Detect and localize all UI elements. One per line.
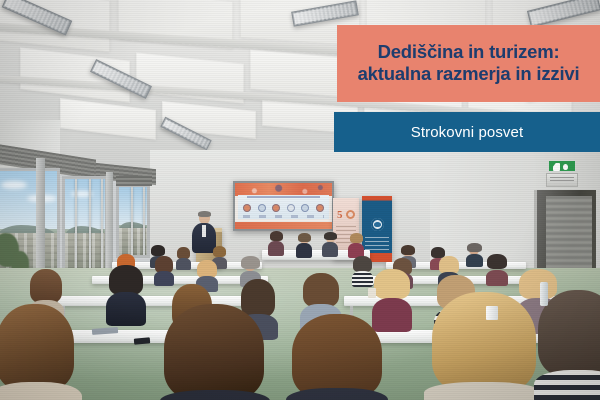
- speaker: [192, 212, 216, 252]
- slide-content: [235, 183, 332, 229]
- audience-member: [352, 258, 373, 285]
- coffee-cup: [368, 288, 376, 298]
- audience-member: [466, 244, 483, 266]
- panelist: [322, 233, 338, 255]
- wall-information-plate: [546, 173, 578, 187]
- window-frame: [36, 158, 45, 284]
- audience-member-foreground: [424, 300, 542, 400]
- coffee-cup: [486, 306, 498, 320]
- title-line-1: Dediščina in turizem:: [378, 41, 560, 62]
- audience-member-foreground: [534, 296, 600, 400]
- window-frame: [106, 172, 113, 276]
- rollup-logo-icon: [371, 218, 384, 231]
- projection-screen: [233, 181, 334, 231]
- window-blind: [116, 176, 152, 186]
- panelist: [268, 232, 284, 254]
- subtitle-banner: Strokovni posvet: [334, 112, 600, 152]
- audience-member: [106, 268, 146, 324]
- audience-member-foreground: [0, 310, 82, 400]
- rollup-ring-icon: [346, 210, 355, 219]
- panelist: [296, 234, 312, 256]
- panelist: [348, 234, 364, 256]
- event-promo-image: 5: [0, 0, 600, 400]
- window-left-outer: [0, 168, 60, 278]
- audience-member: [486, 256, 508, 284]
- title-banner: Dediščina in turizem: aktualna razmerja …: [337, 25, 600, 102]
- water-bottle: [540, 282, 548, 306]
- audience-member: [176, 248, 191, 268]
- window-far: [116, 184, 150, 258]
- emergency-exit-icon: [548, 160, 576, 172]
- window-left-inner: [62, 176, 108, 272]
- audience-member: [154, 258, 174, 284]
- audience-member-foreground: [160, 312, 270, 400]
- title-line-2: aktualna razmerja in izzivi: [358, 63, 580, 84]
- audience-member-foreground: [286, 320, 388, 400]
- subtitle-text: Strokovni posvet: [411, 124, 524, 141]
- rollup-numeral: 5: [337, 209, 343, 221]
